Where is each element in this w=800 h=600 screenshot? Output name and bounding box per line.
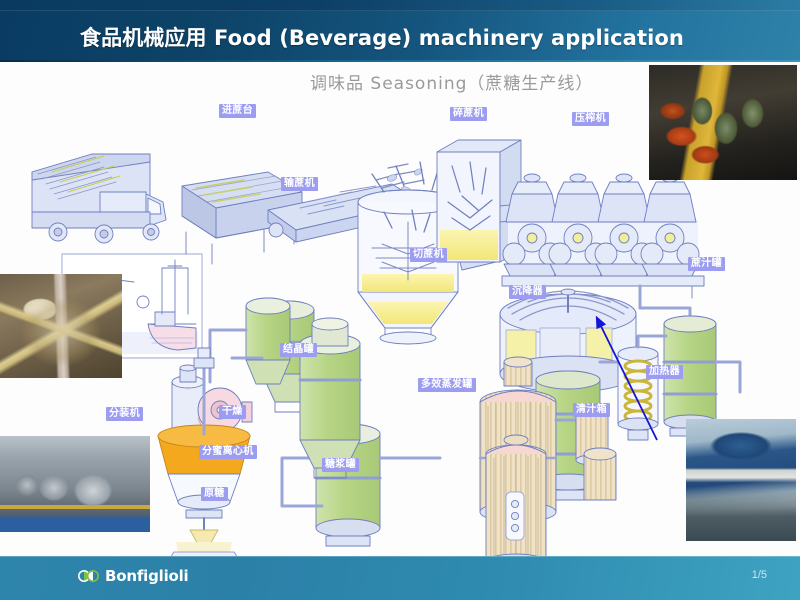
crystallizer-illustration bbox=[246, 298, 360, 478]
auxiliary-tank-illustration bbox=[584, 448, 616, 500]
label-packing-machine: 分装机 bbox=[106, 407, 143, 421]
brand-name: Bonfiglioli bbox=[105, 567, 189, 585]
label-cane-conveyor: 输蔗机 bbox=[281, 177, 318, 191]
page-title: 食品机械应用 Food (Beverage) machinery applica… bbox=[80, 22, 684, 52]
label-juice-heater: 加热器 bbox=[646, 365, 683, 379]
photo-extractor bbox=[0, 274, 122, 378]
footer-top-rule bbox=[0, 556, 800, 557]
slide-header: 食品机械应用 Food (Beverage) machinery applica… bbox=[0, 0, 800, 62]
slide-body: 调味品 Seasoning（蔗糖生产线） bbox=[0, 62, 800, 556]
photo-mill-train bbox=[649, 65, 797, 180]
cane-truck-illustration bbox=[32, 154, 166, 243]
label-cane-cutter: 切蔗机 bbox=[410, 248, 447, 262]
label-raw-sugar: 原糖 bbox=[201, 487, 228, 501]
milling-press-illustration bbox=[502, 174, 704, 298]
label-dryer: 干燥 bbox=[219, 405, 246, 419]
photo-blue-tank-image bbox=[686, 419, 796, 541]
label-clear-juice-box: 清汁箱 bbox=[573, 403, 610, 417]
photo-centrifuges-image bbox=[0, 436, 150, 532]
slide: 食品机械应用 Food (Beverage) machinery applica… bbox=[0, 0, 800, 600]
label-crystallizer-tank: 结晶罐 bbox=[280, 343, 317, 357]
label-multi-effect-evaporator: 多效蒸发罐 bbox=[418, 378, 476, 392]
label-milling-press: 压榨机 bbox=[572, 112, 609, 126]
page-number: 1/5 bbox=[752, 569, 767, 581]
label-centrifugal-separator: 分蜜离心机 bbox=[199, 445, 257, 459]
photo-blue-tank bbox=[686, 419, 796, 541]
label-juice-tank: 蔗汁罐 bbox=[688, 257, 725, 271]
brand-logo: Bonfiglioli bbox=[78, 567, 189, 585]
label-cane-feed-table: 进蔗台 bbox=[219, 104, 256, 118]
centrifugal-separator-illustration bbox=[176, 518, 232, 556]
label-syrup-tank: 糖浆罐 bbox=[322, 458, 359, 472]
photo-centrifuges bbox=[0, 436, 150, 532]
label-cane-shredder: 碎蔗机 bbox=[450, 107, 487, 121]
label-clarifier-settler: 沉降器 bbox=[509, 285, 546, 299]
slide-footer: Bonfiglioli 1/5 bbox=[0, 556, 800, 600]
bonfiglioli-gear-icon bbox=[78, 569, 100, 583]
photo-extractor-image bbox=[0, 274, 122, 378]
photo-mill-train-image bbox=[649, 65, 797, 180]
header-top-strip bbox=[0, 0, 800, 11]
